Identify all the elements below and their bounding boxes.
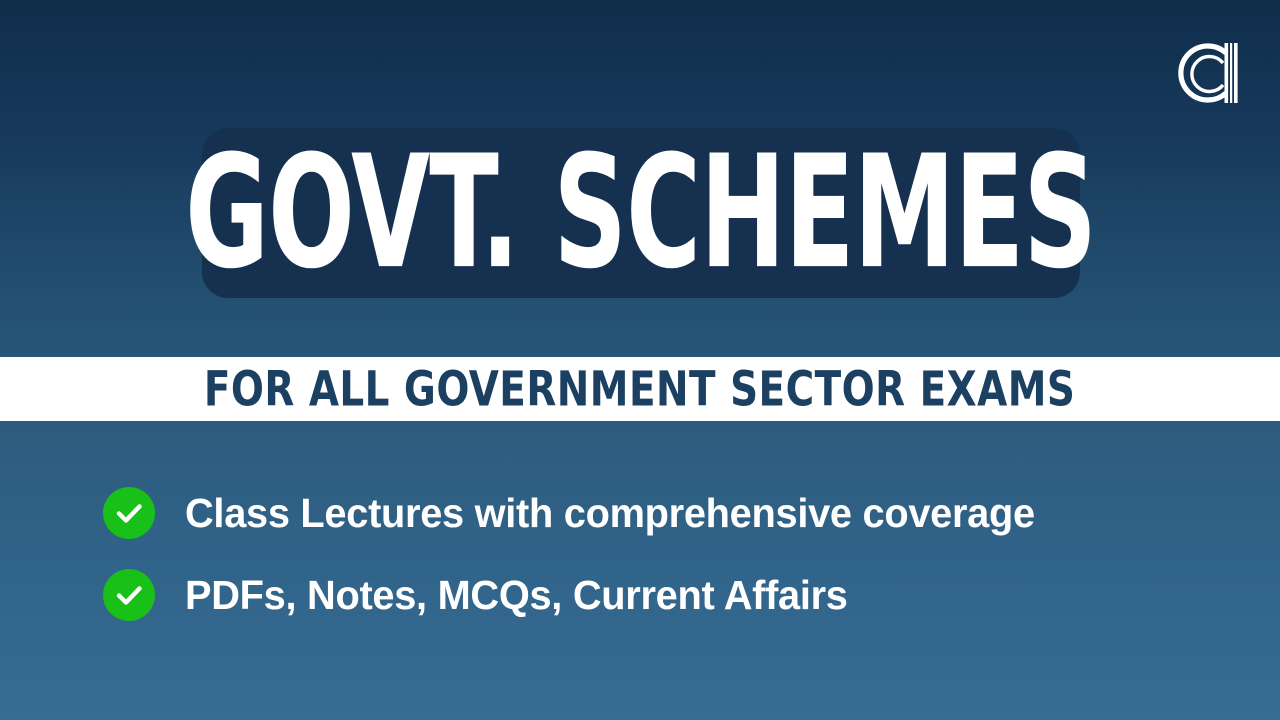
subtitle-text: FOR ALL GOVERNMENT SECTOR EXAMS bbox=[204, 365, 1076, 413]
feature-item: Class Lectures with comprehensive covera… bbox=[103, 487, 1280, 539]
feature-label: Class Lectures with comprehensive covera… bbox=[185, 493, 1035, 534]
features-section: Class Lectures with comprehensive covera… bbox=[0, 421, 1280, 720]
hero-section: GOVT. SCHEMES bbox=[0, 0, 1280, 357]
title-plaque: GOVT. SCHEMES bbox=[202, 128, 1080, 298]
page-title: GOVT. SCHEMES bbox=[186, 135, 1097, 291]
check-circle-icon bbox=[103, 487, 155, 539]
subtitle-banner: FOR ALL GOVERNMENT SECTOR EXAMS bbox=[0, 357, 1280, 421]
promo-poster: GOVT. SCHEMES FOR ALL GOVERNMENT SECTOR … bbox=[0, 0, 1280, 720]
ca-monogram-logo-icon bbox=[1168, 34, 1246, 112]
check-circle-icon bbox=[103, 569, 155, 621]
feature-label: PDFs, Notes, MCQs, Current Affairs bbox=[185, 575, 848, 616]
feature-item: PDFs, Notes, MCQs, Current Affairs bbox=[103, 569, 1280, 621]
